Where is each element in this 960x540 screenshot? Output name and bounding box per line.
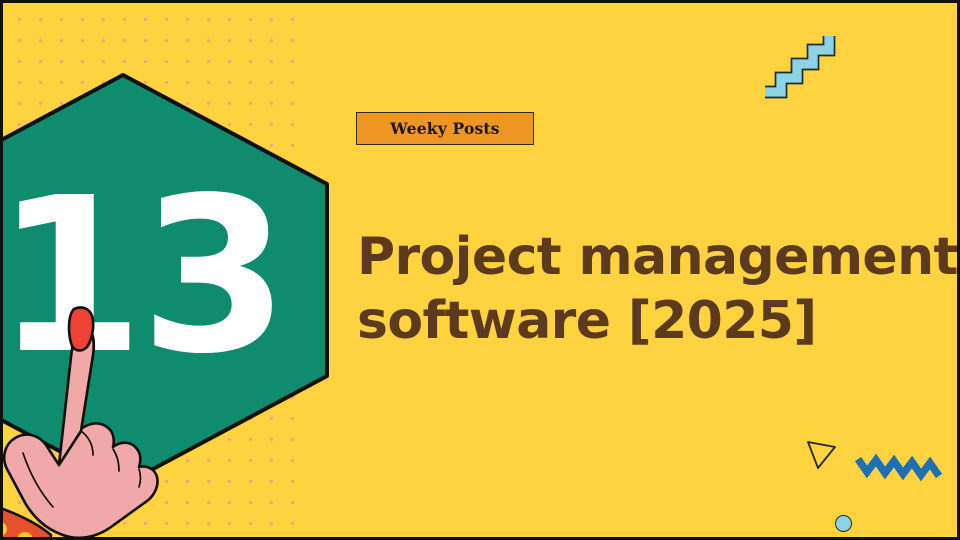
page-title: Project management software [2025] xyxy=(357,225,957,353)
badge-label: Weeky Posts xyxy=(390,119,499,138)
pointing-hand-illustration xyxy=(0,303,179,540)
circle-dot-icon xyxy=(835,515,852,532)
page-title-line-1: Project management xyxy=(357,225,957,289)
stair-zigzag-icon xyxy=(761,30,843,100)
page-title-line-2: software [2025] xyxy=(357,289,957,353)
zigzag-line-icon xyxy=(856,455,942,490)
triangle-outline-icon xyxy=(805,438,839,471)
badge-weeky-posts[interactable]: Weeky Posts xyxy=(356,112,534,145)
slide-canvas: 13 xyxy=(0,0,960,540)
